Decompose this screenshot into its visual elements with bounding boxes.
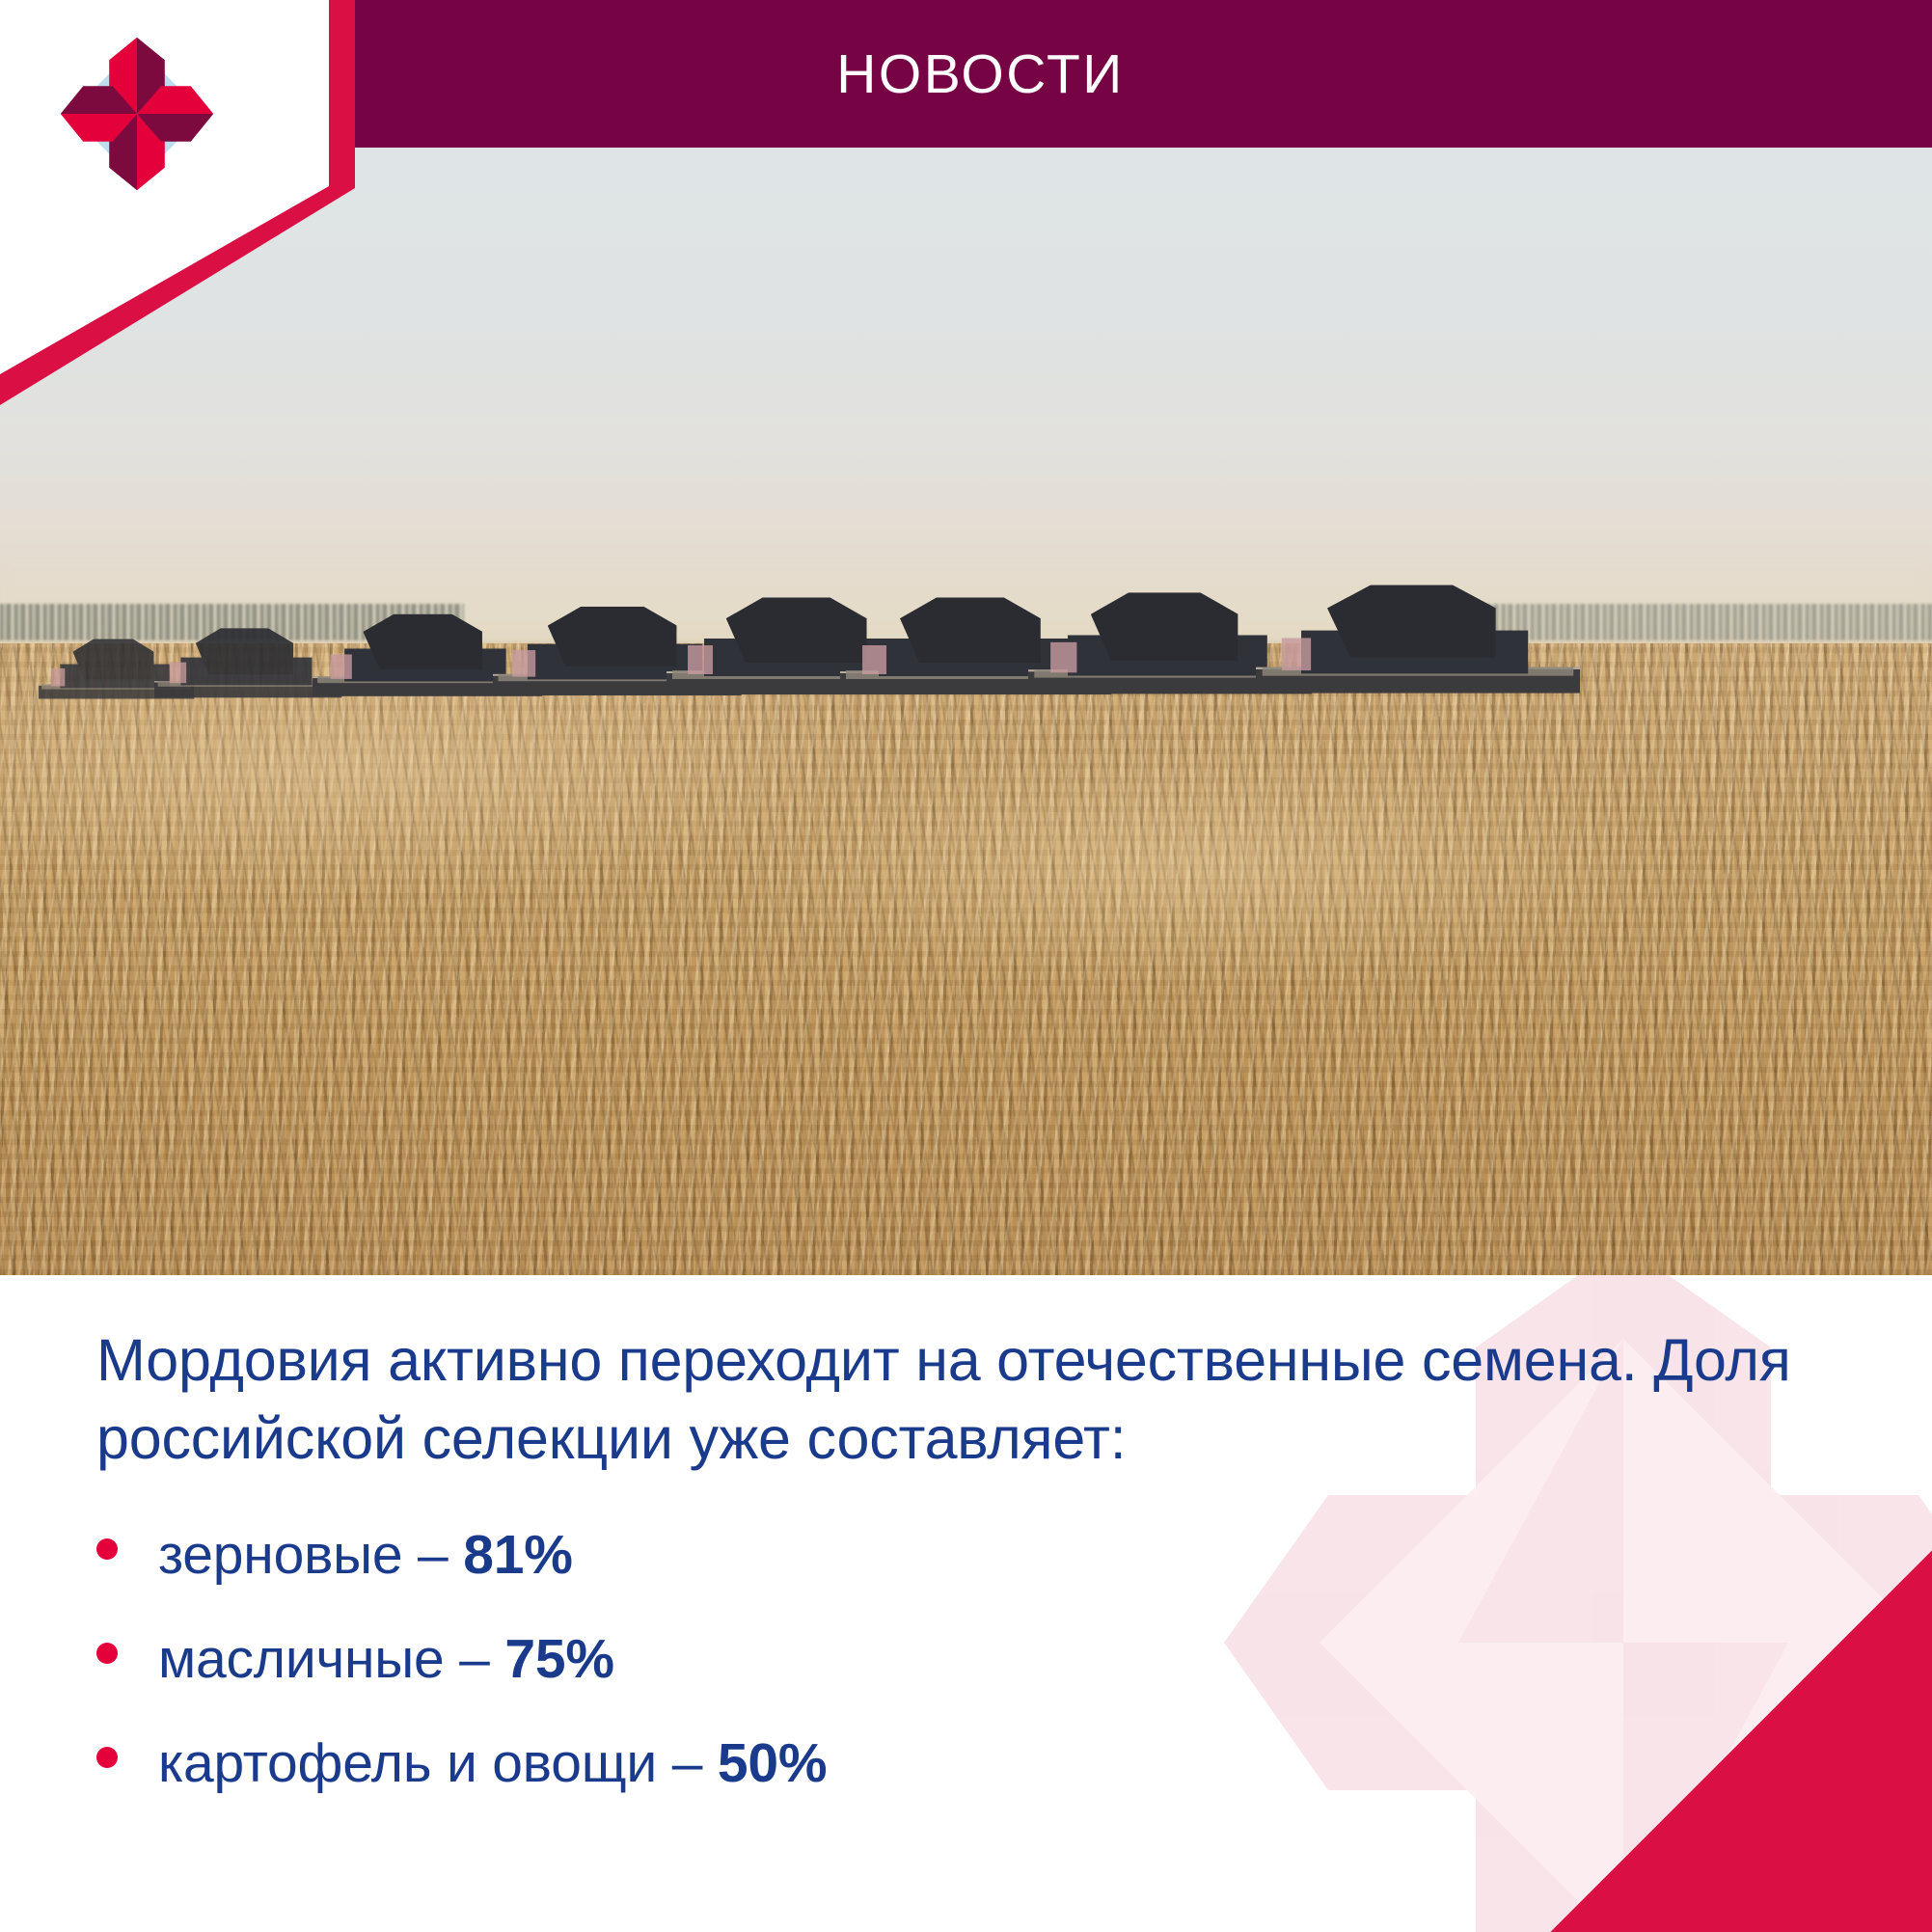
list-item: масличные – 75% — [96, 1627, 1852, 1691]
bullet-dot-icon — [96, 1747, 118, 1768]
list-item-label: зерновые – — [158, 1523, 463, 1587]
content-area: Мордовия активно переходит на отечествен… — [0, 1275, 1932, 1932]
mordovia-rosette-icon — [50, 27, 224, 201]
list-item-label: масличные – — [158, 1627, 504, 1691]
logo-panel — [0, 0, 367, 405]
list-item-label: картофель и овощи – — [158, 1731, 718, 1795]
bullet-dot-icon — [96, 1538, 118, 1560]
stats-list: зерновые – 81% масличные – 75% картофель… — [96, 1523, 1852, 1795]
list-item-value: 75% — [504, 1627, 613, 1691]
list-item-value: 81% — [463, 1523, 572, 1587]
headline: Мордовия активно переходит на отечествен… — [96, 1321, 1823, 1477]
list-item-value: 50% — [718, 1731, 827, 1795]
text-block: Мордовия активно переходит на отечествен… — [96, 1321, 1852, 1836]
bullet-dot-icon — [96, 1643, 118, 1664]
wheat-field — [0, 643, 1932, 1275]
list-item: зерновые – 81% — [96, 1523, 1852, 1587]
combine-harvester — [1256, 580, 1580, 706]
list-item: картофель и овощи – 50% — [96, 1731, 1852, 1795]
news-poster: НОВОСТИ — [0, 0, 1932, 1932]
combine-harvester-row — [0, 593, 1932, 706]
